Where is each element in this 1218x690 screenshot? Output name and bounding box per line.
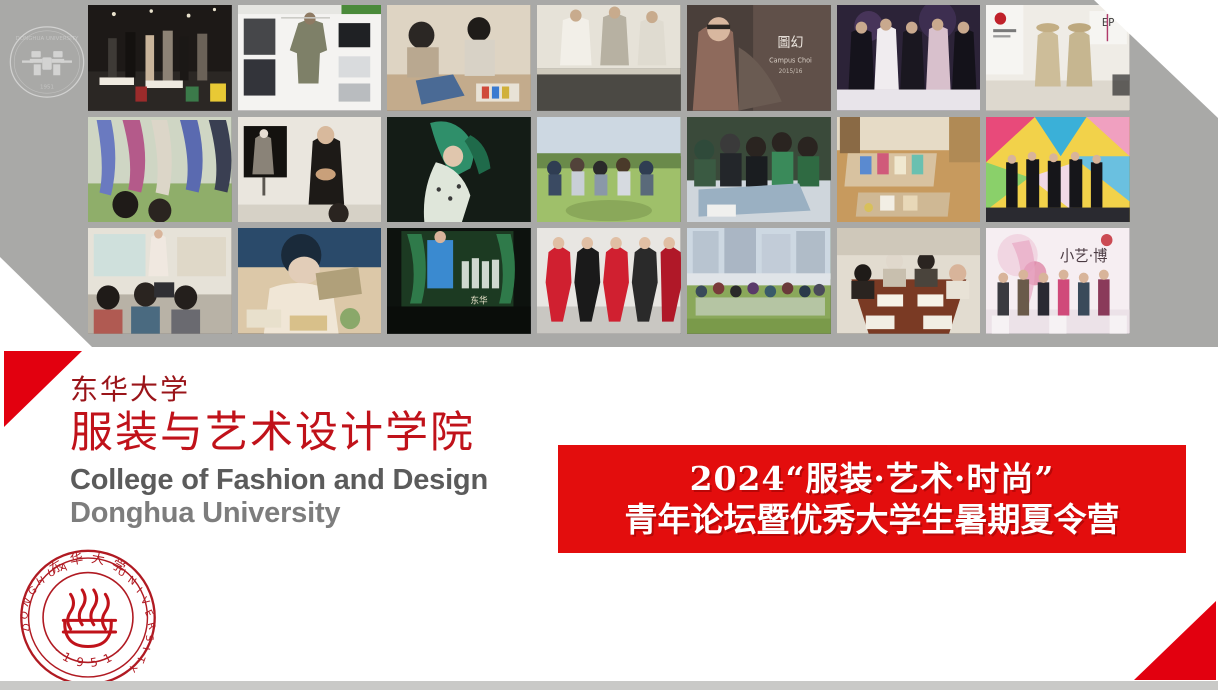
- svg-text:S: S: [143, 635, 154, 642]
- svg-text:Campus Choi: Campus Choi: [769, 56, 812, 64]
- photo-cell: [238, 5, 382, 111]
- photo-cell: [837, 228, 981, 334]
- photo-cell: [537, 5, 681, 111]
- bottom-divider: [0, 681, 1218, 690]
- svg-text:东华: 东华: [471, 295, 488, 307]
- photo-cell: 东华: [387, 228, 531, 334]
- photo-cell: [88, 5, 232, 111]
- university-seal-logo: 东 华 大 学 · 1 9 5 1 · D O N G H U A U N I …: [14, 545, 162, 690]
- svg-text:A: A: [60, 562, 68, 574]
- college-name-en: College of Fashion and Design: [70, 464, 570, 496]
- photo-mosaic-grid: 圖幻 Campus Choi 2015/16: [88, 5, 1130, 334]
- photo-cell: [88, 117, 232, 223]
- event-title-line2: 青年论坛暨优秀大学生暑期夏令营: [625, 499, 1120, 540]
- photo-cell: [837, 5, 981, 111]
- photo-cell: 小艺·博: [986, 228, 1130, 334]
- university-name-cn: 东华大学: [70, 375, 570, 404]
- corner-cut-bottom-left: [0, 257, 92, 347]
- university-name-en: Donghua University: [70, 497, 570, 529]
- photo-cell: [687, 228, 831, 334]
- svg-text:1951: 1951: [40, 85, 54, 91]
- svg-text:DONGHUA UNIVERSITY: DONGHUA UNIVERSITY: [16, 36, 79, 42]
- photo-cell: [387, 5, 531, 111]
- svg-text:2015/16: 2015/16: [778, 69, 802, 75]
- college-name-cn: 服装与艺术设计学院: [70, 408, 570, 459]
- photo-band: DONGHUA UNIVERSITY 1951: [0, 0, 1218, 347]
- photo-cell: [837, 117, 981, 223]
- svg-text:EP: EP: [1102, 17, 1114, 29]
- photo-cell: [387, 117, 531, 223]
- photo-cell: EP: [986, 5, 1130, 111]
- university-seal-watermark-icon: DONGHUA UNIVERSITY 1951: [8, 14, 86, 110]
- svg-text:小艺·博: 小艺·博: [1060, 248, 1108, 265]
- photo-cell: [238, 228, 382, 334]
- photo-cell: [537, 228, 681, 334]
- accent-triangle-bottom-right: [1134, 601, 1216, 680]
- photo-cell: [88, 228, 232, 334]
- photo-cell: 圖幻 Campus Choi 2015/16: [687, 5, 831, 111]
- slide-canvas: DONGHUA UNIVERSITY 1951: [0, 0, 1218, 690]
- photo-cell: [687, 117, 831, 223]
- photo-cell: [537, 117, 681, 223]
- photo-cell: [986, 117, 1130, 223]
- svg-text:圖幻: 圖幻: [777, 35, 803, 51]
- svg-text:R: R: [145, 621, 157, 630]
- event-title-banner: 2024“服装·艺术·时尚” 青年论坛暨优秀大学生暑期夏令营: [558, 445, 1186, 553]
- event-title-line1: 2024“服装·艺术·时尚”: [690, 458, 1055, 499]
- institution-identity-block: 东华大学 服装与艺术设计学院 College of Fashion and De…: [70, 375, 570, 529]
- photo-cell: [238, 117, 382, 223]
- title-area: 东华大学 服装与艺术设计学院 College of Fashion and De…: [0, 347, 1218, 690]
